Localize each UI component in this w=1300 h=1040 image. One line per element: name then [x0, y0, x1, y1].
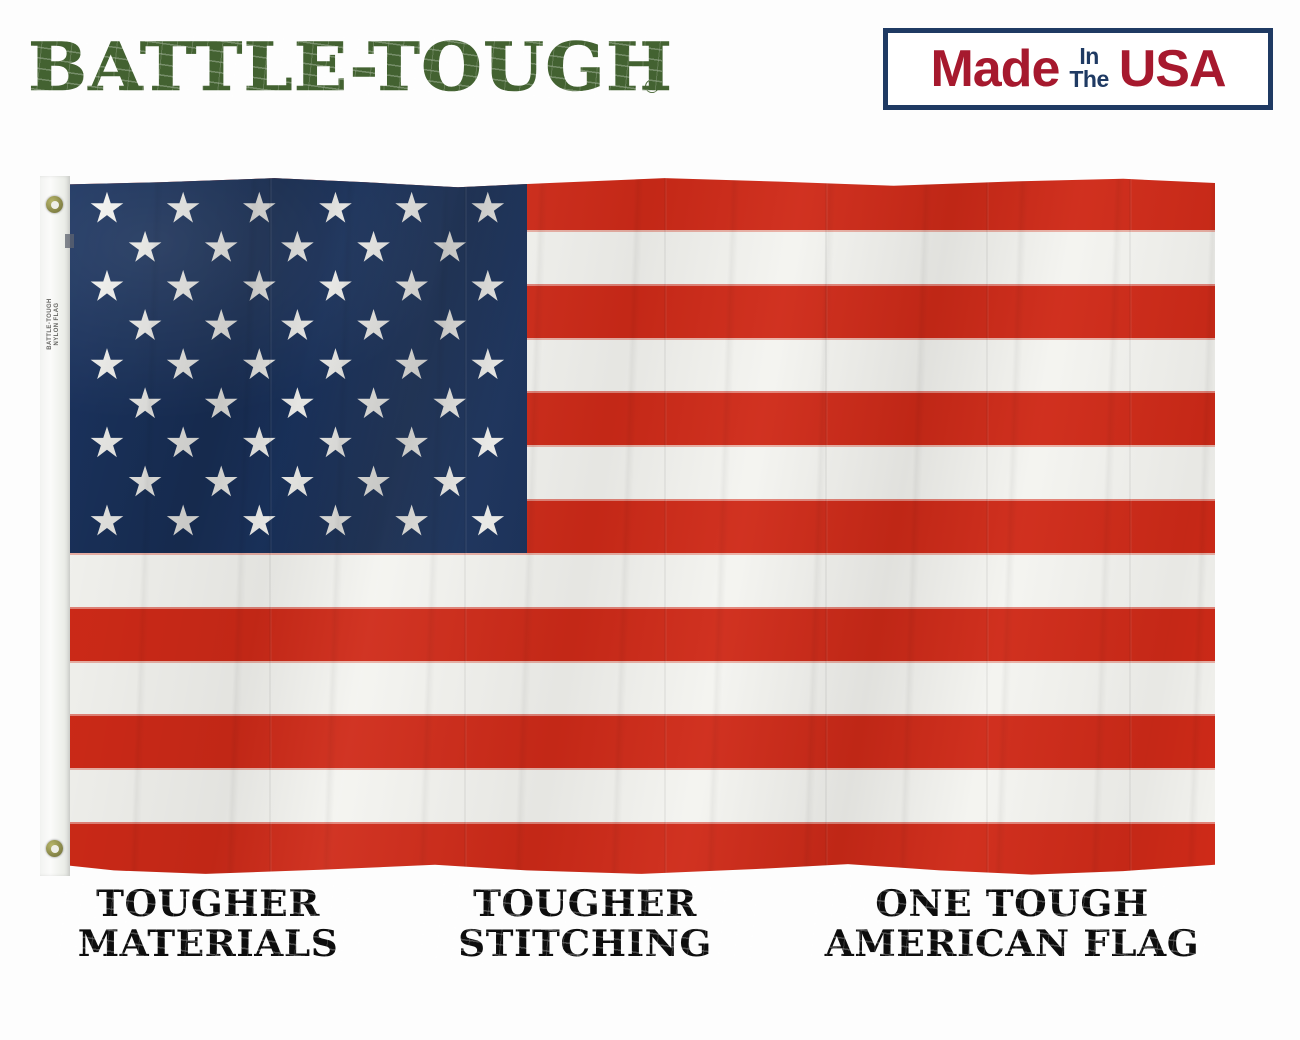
- flag-star: [433, 230, 467, 264]
- tagline-tougher-materials: TOUGHER MATERIALS: [52, 884, 364, 964]
- made-in-usa-usa-text: USA: [1119, 43, 1226, 95]
- flag-star: [90, 504, 124, 538]
- flag-star: [242, 504, 276, 538]
- flag-star: [90, 347, 124, 381]
- flag-star: [357, 230, 391, 264]
- flag-star: [242, 191, 276, 225]
- made-in-usa-in-text: In: [1079, 45, 1098, 68]
- flag-star: [471, 269, 505, 303]
- american-flag-image: BATTLE-TOUGH NYLON FLAG: [40, 176, 1215, 876]
- flag-star: [395, 347, 429, 381]
- flag-star: [471, 426, 505, 460]
- made-in-usa-badge: Made In The USA: [883, 28, 1273, 110]
- flag-star: [166, 269, 200, 303]
- flag-star: [204, 387, 238, 421]
- hoist-brand-label: BATTLE-TOUGH NYLON FLAG: [41, 264, 67, 384]
- flag-stripe-11-red: [68, 714, 1215, 768]
- tagline-line-2: STITCHING: [413, 924, 756, 964]
- flag-star: [395, 191, 429, 225]
- flag-star: [433, 465, 467, 499]
- flag-star: [280, 465, 314, 499]
- flag-star: [471, 191, 505, 225]
- flag-star: [395, 426, 429, 460]
- flag-star: [128, 465, 162, 499]
- grommet-bottom-icon: [46, 840, 63, 857]
- tagline-one-tough-american-flag: ONE TOUGH AMERICAN FLAG: [804, 884, 1220, 964]
- tagline-tougher-stitching: TOUGHER STITCHING: [413, 884, 756, 964]
- flag-star: [433, 308, 467, 342]
- flag-star: [280, 230, 314, 264]
- flag-body: [68, 176, 1215, 876]
- flag-star: [318, 191, 352, 225]
- flag-star: [166, 426, 200, 460]
- flag-star: [204, 230, 238, 264]
- flag-star: [395, 269, 429, 303]
- hoist-brand-label-text: BATTLE-TOUGH NYLON FLAG: [47, 298, 61, 350]
- flag-star: [90, 426, 124, 460]
- flag-stripe-12-white: [68, 768, 1215, 822]
- flag-star: [204, 308, 238, 342]
- flag-star: [433, 387, 467, 421]
- flag-star: [128, 230, 162, 264]
- flag-star: [242, 347, 276, 381]
- grommet-top-icon: [46, 196, 63, 213]
- brand-wordmark: BATTLE-TOUGH ®: [28, 36, 662, 98]
- flag-star: [128, 308, 162, 342]
- flag-stripe-13-red: [68, 822, 1215, 876]
- made-in-usa-badge-inner: Made In The USA: [930, 43, 1225, 95]
- tagline-line-1: ONE TOUGH: [804, 884, 1220, 924]
- flag-stripe-10-white: [68, 661, 1215, 715]
- made-in-usa-made-text: Made: [930, 43, 1059, 95]
- flag-star: [166, 347, 200, 381]
- flag-star: [90, 269, 124, 303]
- flag-star: [280, 387, 314, 421]
- flag-star: [242, 269, 276, 303]
- taglines-row: TOUGHER MATERIALS TOUGHER STITCHING ONE …: [40, 884, 1220, 964]
- flag-star: [166, 504, 200, 538]
- flag-star: [90, 191, 124, 225]
- flag-star: [357, 387, 391, 421]
- made-in-usa-the-text: The: [1069, 68, 1108, 91]
- tagline-line-1: TOUGHER: [413, 884, 756, 924]
- tagline-line-2: AMERICAN FLAG: [804, 924, 1220, 964]
- flag-star: [357, 308, 391, 342]
- flag-stripe-9-red: [68, 607, 1215, 661]
- flag-star: [395, 504, 429, 538]
- made-in-usa-in-the-stack: In The: [1069, 45, 1108, 93]
- flag-star: [128, 387, 162, 421]
- tagline-line-2: MATERIALS: [52, 924, 364, 964]
- tagline-line-1: TOUGHER: [52, 884, 364, 924]
- flag-star: [280, 308, 314, 342]
- flag-star: [357, 465, 391, 499]
- brand-wordmark-text: BATTLE-TOUGH: [28, 36, 673, 98]
- flag-star: [204, 465, 238, 499]
- flag-star: [318, 269, 352, 303]
- flag-star: [318, 504, 352, 538]
- hoist-tag-icon: [65, 234, 74, 248]
- flag-star-field: [68, 176, 527, 553]
- flag-star: [318, 347, 352, 381]
- flag-star: [166, 191, 200, 225]
- flag-canton: [68, 176, 527, 553]
- flag-star: [242, 426, 276, 460]
- flag-stripe-8-white: [68, 553, 1215, 607]
- flag-star: [318, 426, 352, 460]
- flag-star: [471, 504, 505, 538]
- flag-star: [471, 347, 505, 381]
